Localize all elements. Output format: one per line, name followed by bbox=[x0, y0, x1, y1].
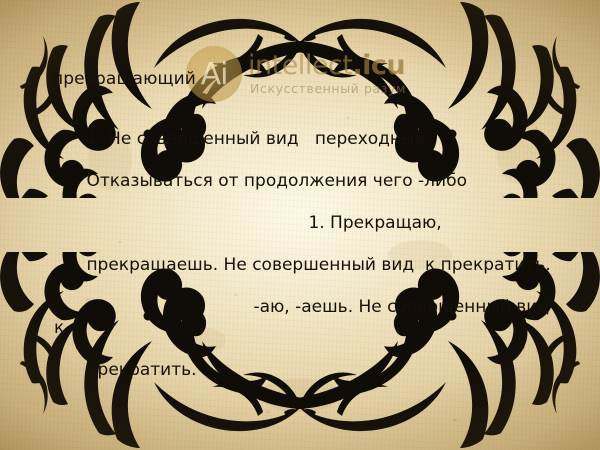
definition-line-4: прекращаешь. Не совершенный вид к прекра… bbox=[86, 255, 550, 275]
definition-line-3: 1. Прекращаю, bbox=[308, 213, 441, 233]
page-title: прекращающий bbox=[52, 69, 196, 89]
definition-line-6: прекратить. bbox=[86, 360, 196, 380]
definition-text: 1. Не совершенный вид переходный Отказыв… bbox=[54, 108, 554, 402]
definition-line-2: Отказываться от продолжения чего -либо bbox=[86, 171, 467, 191]
definition-line-1: 1. Не совершенный вид переходный bbox=[86, 129, 425, 149]
slide-canvas: Ai intellect.icu Искусственный разум пре… bbox=[0, 0, 600, 450]
definition-line-5: -аю, -аешь. Не совершенный вид к bbox=[54, 297, 560, 338]
slide-content: прекращающий 1. Не совершенный вид перех… bbox=[0, 0, 600, 450]
